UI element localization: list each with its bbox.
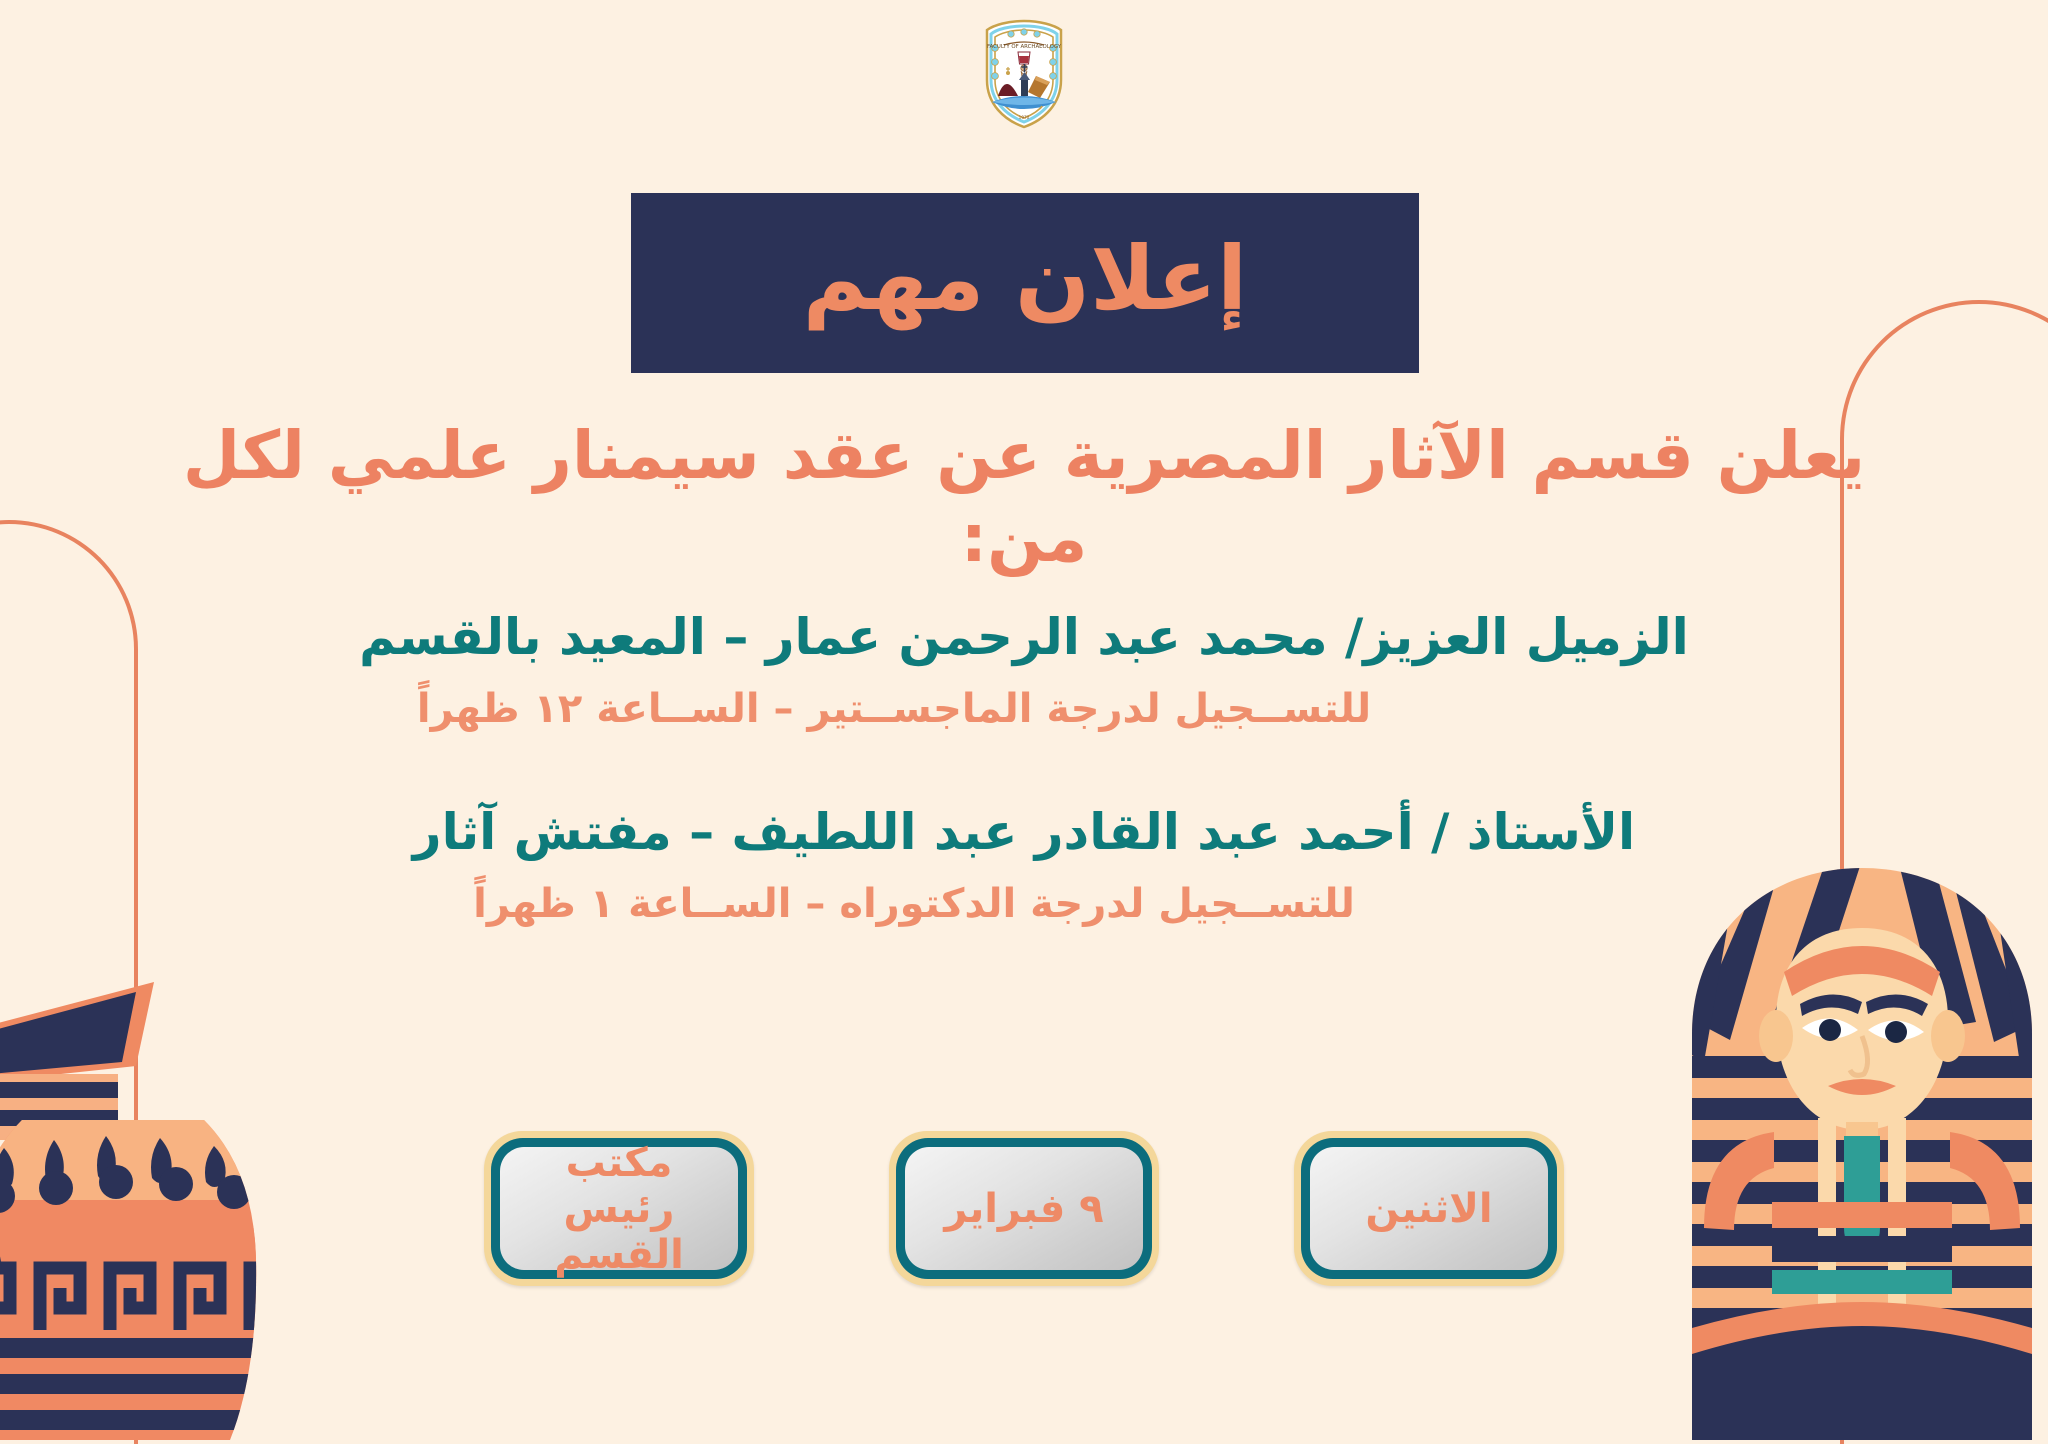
pill-venue-label: مكتب رئيس القسم bbox=[500, 1140, 738, 1278]
title-banner: إعلان مهم bbox=[631, 193, 1419, 373]
pill-border: مكتب رئيس القسم bbox=[491, 1138, 747, 1279]
pill-border: الاثنين bbox=[1301, 1138, 1557, 1279]
seminar-entry: الأستاذ / أحمد عبد القادر عبد اللطيف – م… bbox=[130, 800, 1918, 931]
greek-amphora-vase-icon bbox=[0, 970, 294, 1444]
page-title: إعلان مهم bbox=[803, 235, 1247, 323]
presenter-details: للتســجيل لدرجة الدكتوراه – الســاعة ١ ظ… bbox=[130, 877, 1918, 931]
presenter-details: للتســجيل لدرجة الماجســتير – الســاعة ١… bbox=[130, 682, 1918, 736]
pill-venue[interactable]: مكتب رئيس القسم bbox=[484, 1131, 754, 1286]
crest-container: FACULTY OF ARCHAEOLOGY 1970 bbox=[0, 18, 2048, 130]
tutankhamun-mask-icon bbox=[1676, 850, 2048, 1444]
svg-text:1970: 1970 bbox=[1019, 115, 1030, 120]
announcement-poster: FACULTY OF ARCHAEOLOGY 1970 إعلان مهم يع… bbox=[0, 0, 2048, 1444]
seminar-entry: الزميل العزيز/ محمد عبد الرحمن عمار – ال… bbox=[130, 605, 1918, 736]
pill-face: ٩ فبراير bbox=[905, 1147, 1143, 1270]
pill-date-label: ٩ فبراير bbox=[944, 1186, 1103, 1232]
presenter-name: الزميل العزيز/ محمد عبد الرحمن عمار – ال… bbox=[130, 605, 1918, 670]
pill-border: ٩ فبراير bbox=[896, 1138, 1152, 1279]
university-crest-icon: FACULTY OF ARCHAEOLOGY 1970 bbox=[978, 18, 1070, 130]
pill-face: مكتب رئيس القسم bbox=[500, 1147, 738, 1270]
pill-day-label: الاثنين bbox=[1365, 1186, 1492, 1232]
pill-date[interactable]: ٩ فبراير bbox=[889, 1131, 1159, 1286]
pill-face: الاثنين bbox=[1310, 1147, 1548, 1270]
svg-text:FACULTY OF ARCHAEOLOGY: FACULTY OF ARCHAEOLOGY bbox=[987, 44, 1062, 50]
intro-text: يعلن قسم الآثار المصرية عن عقد سيمنار عل… bbox=[0, 415, 2048, 580]
spacer bbox=[130, 766, 1918, 800]
presenter-name: الأستاذ / أحمد عبد القادر عبد اللطيف – م… bbox=[130, 800, 1918, 865]
pill-day[interactable]: الاثنين bbox=[1294, 1131, 1564, 1286]
